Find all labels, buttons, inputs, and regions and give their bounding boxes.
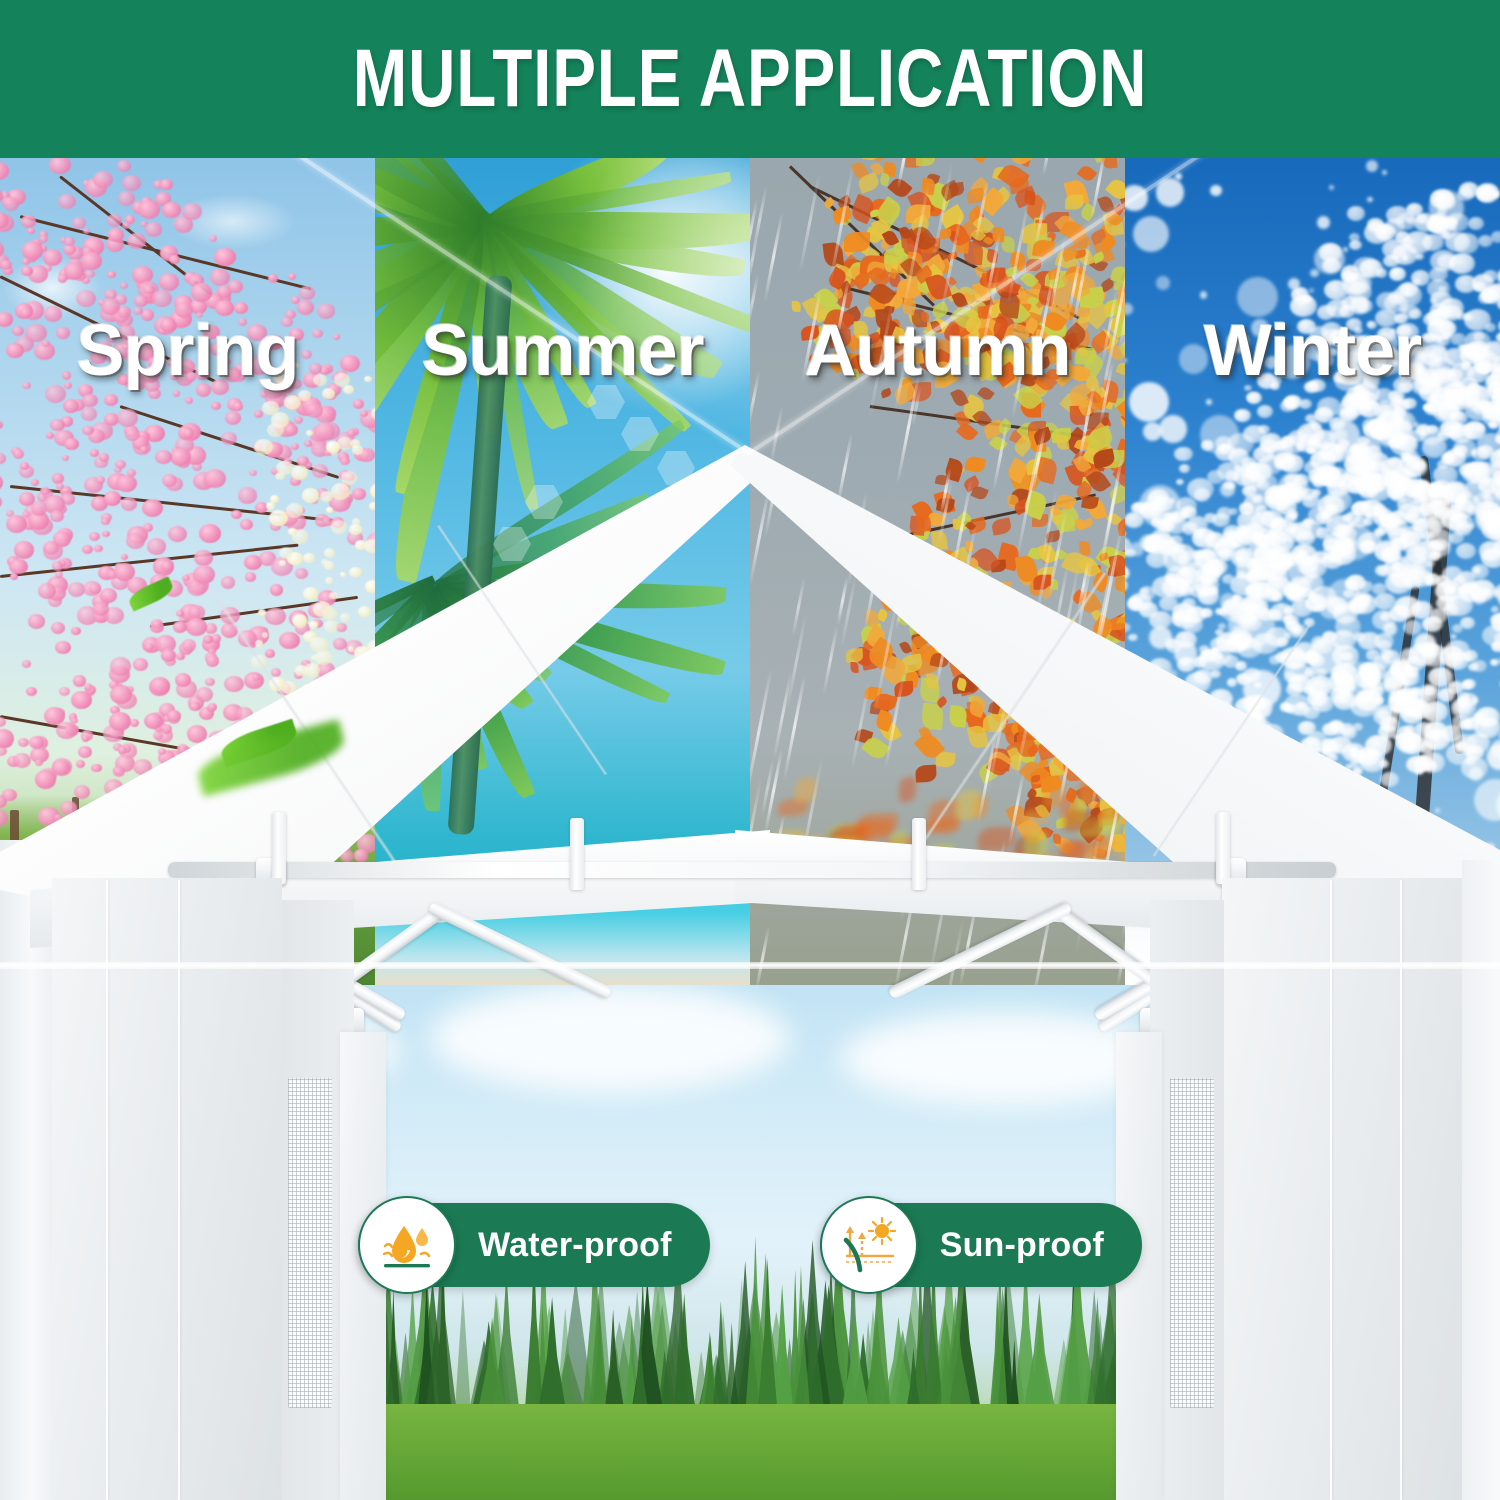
cherry-blossom bbox=[120, 282, 128, 289]
cherry-blossom bbox=[245, 572, 257, 582]
cherry-blossom bbox=[208, 703, 218, 712]
cherry-blossom bbox=[108, 353, 123, 366]
cherry-blossom bbox=[312, 329, 323, 338]
cherry-blossom bbox=[104, 394, 118, 406]
white-blossom bbox=[292, 614, 306, 626]
cherry-blossom bbox=[185, 372, 197, 382]
white-blossom bbox=[313, 601, 331, 617]
cherry-blossom bbox=[110, 685, 132, 704]
cherry-blossom bbox=[170, 373, 178, 380]
cherry-blossom bbox=[116, 475, 137, 493]
cherry-blossom bbox=[266, 335, 283, 350]
cherry-blossom bbox=[82, 545, 93, 554]
white-blossom bbox=[315, 650, 331, 664]
cherry-blossom bbox=[268, 274, 278, 282]
snowflake bbox=[1278, 473, 1307, 502]
white-blossom bbox=[325, 577, 334, 584]
snowflake bbox=[1481, 489, 1490, 498]
snowflake bbox=[1169, 498, 1174, 503]
frosted-branch bbox=[1269, 655, 1281, 664]
frosted-branch bbox=[1210, 670, 1221, 678]
frosted-branch bbox=[1478, 235, 1493, 247]
cherry-blossom bbox=[211, 402, 221, 410]
cherry-blossom bbox=[225, 411, 241, 425]
frosted-branch bbox=[1459, 720, 1472, 730]
cherry-blossom bbox=[228, 280, 244, 293]
snowflake bbox=[1314, 244, 1344, 274]
white-blossom bbox=[364, 539, 375, 553]
canopy-strap bbox=[912, 818, 926, 890]
cherry-blossom bbox=[270, 584, 283, 595]
canopy-strap bbox=[1216, 812, 1230, 884]
frosted-branch bbox=[1250, 534, 1260, 542]
frosted-branch bbox=[1176, 479, 1184, 485]
frosted-branch bbox=[1139, 586, 1156, 599]
cherry-blossom bbox=[196, 687, 213, 702]
cherry-blossom bbox=[210, 269, 230, 286]
badge-water-proof[interactable]: Water-proof bbox=[358, 1196, 710, 1294]
white-blossom bbox=[279, 547, 293, 559]
frosted-branch bbox=[1330, 337, 1338, 344]
white-blossom bbox=[258, 609, 266, 616]
white-blossom bbox=[273, 371, 287, 383]
cherry-blossom bbox=[107, 271, 115, 278]
frosted-branch bbox=[1298, 520, 1323, 540]
cherry-blossom bbox=[26, 687, 38, 697]
cherry-blossom bbox=[78, 746, 92, 758]
frosted-branch bbox=[1235, 556, 1243, 563]
snowflake bbox=[1200, 415, 1239, 454]
frosted-branch bbox=[1128, 634, 1137, 642]
cherry-blossom bbox=[35, 770, 57, 789]
maple-leaf bbox=[853, 320, 868, 338]
cherry-blossom bbox=[102, 531, 110, 538]
cherry-blossom bbox=[83, 228, 90, 234]
cherry-blossom bbox=[182, 639, 197, 652]
white-blossom bbox=[343, 385, 354, 394]
cherry-blossom bbox=[206, 655, 220, 667]
frosted-branch bbox=[1287, 509, 1299, 518]
cherry-blossom bbox=[231, 510, 242, 519]
frosted-branch bbox=[1437, 254, 1456, 269]
cherry-blossom bbox=[141, 309, 154, 320]
cherry-blossom bbox=[82, 394, 98, 407]
cherry-blossom bbox=[0, 312, 13, 327]
cherry-blossom bbox=[162, 474, 177, 487]
cherry-blossom bbox=[0, 809, 8, 827]
maple-leaf bbox=[850, 661, 859, 672]
cherry-blossom bbox=[90, 350, 106, 364]
cherry-blossom bbox=[151, 619, 163, 629]
cherry-blossom bbox=[56, 722, 77, 740]
cherry-blossom bbox=[52, 760, 70, 775]
badge-sun-proof[interactable]: Sun-proof bbox=[820, 1196, 1142, 1294]
frosted-branch bbox=[1402, 398, 1416, 410]
cherry-blossom bbox=[173, 621, 188, 634]
cherry-blossom bbox=[117, 325, 135, 340]
cherry-blossom bbox=[314, 422, 335, 440]
cherry-blossom bbox=[55, 641, 71, 654]
cherry-blossom bbox=[39, 235, 48, 243]
white-blossom bbox=[303, 587, 318, 600]
maple-leaf bbox=[792, 300, 801, 311]
photo-composite-seam bbox=[0, 962, 1500, 969]
badge-icon-circle bbox=[820, 1196, 918, 1294]
cherry-blossom bbox=[74, 785, 91, 799]
cherry-blossom bbox=[13, 449, 25, 459]
cherry-blossom bbox=[189, 702, 200, 712]
cherry-blossom bbox=[22, 660, 31, 668]
maple-leaf bbox=[1053, 834, 1061, 844]
cherry-blossom bbox=[93, 171, 113, 188]
frosted-branch bbox=[1174, 447, 1192, 462]
frosted-branch bbox=[1375, 309, 1398, 327]
white-blossom bbox=[303, 553, 315, 563]
cherry-blossom bbox=[81, 407, 97, 421]
frosted-branch bbox=[1433, 465, 1458, 485]
cherry-blossom bbox=[138, 200, 160, 219]
white-blossom bbox=[291, 465, 309, 480]
cherry-blossom bbox=[182, 575, 189, 581]
white-blossom bbox=[349, 524, 362, 535]
cherry-blossom bbox=[0, 260, 12, 270]
frosted-branch bbox=[1375, 542, 1399, 561]
cherry-blossom bbox=[203, 325, 220, 340]
cherry-blossom bbox=[265, 608, 285, 626]
frosted-branch bbox=[1327, 348, 1337, 356]
cherry-blossom bbox=[333, 638, 348, 650]
cherry-blossom bbox=[62, 371, 72, 379]
cherry-blossom bbox=[12, 326, 24, 336]
cherry-blossom bbox=[62, 455, 70, 461]
frosted-branch bbox=[1456, 543, 1476, 559]
cherry-blossom bbox=[199, 524, 220, 542]
cherry-blossom bbox=[196, 312, 203, 318]
maple-leaf bbox=[1065, 194, 1084, 209]
frosted-branch bbox=[1459, 463, 1476, 477]
cherry-blossom bbox=[85, 270, 95, 278]
cherry-blossom bbox=[113, 766, 125, 776]
frosted-branch bbox=[1266, 589, 1280, 600]
product-marketing-image: Spring Summer Autumn Winter bbox=[0, 0, 1500, 1500]
snowflake bbox=[1156, 276, 1169, 289]
frosted-branch bbox=[1347, 395, 1372, 415]
cherry-blossom bbox=[289, 328, 304, 341]
cherry-blossom bbox=[288, 273, 296, 280]
cherry-blossom bbox=[143, 523, 153, 532]
frosted-branch bbox=[1466, 733, 1490, 752]
snowflake bbox=[1350, 296, 1369, 315]
cherry-blossom bbox=[175, 302, 193, 317]
tent-side-wall-left bbox=[52, 878, 282, 1500]
cherry-blossom bbox=[0, 474, 3, 491]
snowflake bbox=[1200, 291, 1207, 298]
cherry-blossom bbox=[312, 464, 328, 478]
cherry-blossom bbox=[0, 421, 3, 429]
cherry-blossom bbox=[352, 488, 366, 500]
cherry-blossom bbox=[81, 252, 101, 270]
frosted-branch bbox=[1468, 217, 1484, 230]
maple-leaf bbox=[917, 514, 932, 532]
wall-seam bbox=[1400, 880, 1402, 1500]
frosted-branch bbox=[1428, 667, 1453, 687]
cherry-blossom bbox=[100, 588, 117, 603]
cherry-blossom bbox=[221, 576, 236, 589]
white-blossom bbox=[309, 621, 318, 629]
frosted-branch bbox=[1182, 522, 1198, 535]
frosted-branch bbox=[1427, 279, 1450, 297]
cherry-blossom bbox=[22, 382, 30, 389]
frosted-branch bbox=[1397, 323, 1419, 341]
cherry-blossom bbox=[309, 363, 322, 374]
white-blossom bbox=[326, 507, 333, 513]
cherry-blossom bbox=[19, 492, 35, 506]
snowflake bbox=[1163, 546, 1189, 572]
frosted-branch bbox=[1461, 344, 1477, 357]
cherry-blossom bbox=[233, 402, 243, 411]
cherry-blossom bbox=[252, 674, 260, 681]
cherry-blossom bbox=[193, 565, 215, 584]
frosted-branch bbox=[1270, 517, 1288, 532]
cherry-blossom bbox=[211, 379, 229, 394]
cherry-blossom bbox=[183, 429, 193, 438]
white-blossom bbox=[267, 423, 284, 437]
frosted-branch bbox=[1442, 332, 1451, 339]
frosted-branch bbox=[1374, 593, 1395, 610]
cherry-blossom bbox=[168, 526, 187, 542]
cherry-blossom bbox=[234, 302, 248, 314]
cherry-blossom bbox=[58, 194, 76, 209]
snowflake bbox=[1319, 596, 1341, 618]
cherry-blossom bbox=[45, 385, 65, 403]
cherry-blossom bbox=[186, 618, 207, 636]
frosted-branch bbox=[1312, 489, 1322, 497]
frosted-branch bbox=[1402, 305, 1419, 319]
white-blossom bbox=[310, 637, 328, 652]
snowflake bbox=[1429, 190, 1465, 226]
frosted-branch bbox=[1461, 680, 1473, 690]
frosted-branch bbox=[1230, 531, 1252, 548]
white-blossom bbox=[286, 503, 303, 518]
distant-foliage bbox=[857, 813, 899, 836]
white-blossom bbox=[326, 441, 339, 452]
tent-wall-right-outer bbox=[1462, 860, 1500, 1500]
cherry-blossom bbox=[147, 538, 166, 554]
frosted-branch bbox=[1197, 587, 1210, 597]
frosted-branch bbox=[1179, 464, 1190, 473]
cherry-blossom bbox=[21, 266, 33, 276]
frosted-branch bbox=[1204, 513, 1217, 523]
cherry-blossom bbox=[140, 446, 148, 453]
cherry-blossom bbox=[108, 228, 124, 242]
frosted-branch bbox=[1415, 253, 1423, 260]
frosted-branch bbox=[1401, 706, 1424, 724]
frosted-branch bbox=[1486, 373, 1500, 388]
frosted-branch bbox=[1367, 218, 1383, 231]
cherry-blossom bbox=[18, 738, 29, 747]
frosted-branch bbox=[1385, 218, 1405, 234]
snowflake bbox=[1284, 671, 1296, 683]
snowflake bbox=[1237, 277, 1277, 317]
cherry-blossom bbox=[140, 366, 160, 383]
cherry-blossom bbox=[35, 759, 43, 766]
cherry-blossom bbox=[336, 623, 346, 632]
white-blossom bbox=[329, 592, 338, 600]
cherry-blossom bbox=[10, 573, 18, 580]
white-blossom bbox=[284, 395, 301, 410]
cherry-blossom bbox=[284, 424, 298, 436]
snowflake bbox=[1475, 503, 1500, 533]
snowflake bbox=[1383, 622, 1396, 635]
cherry-blossom bbox=[295, 568, 308, 579]
cherry-blossom bbox=[238, 487, 257, 503]
feature-badge-row: Water-proof Sun-proof bbox=[0, 1196, 1500, 1306]
cherry-blossom bbox=[240, 519, 253, 530]
snowflake bbox=[1179, 344, 1208, 373]
cherry-blossom bbox=[28, 614, 45, 629]
frosted-branch bbox=[1385, 361, 1401, 374]
cherry-blossom bbox=[173, 390, 180, 396]
sun-deflect-icon bbox=[836, 1212, 902, 1278]
snowflake bbox=[1382, 735, 1387, 740]
cherry-blossom bbox=[161, 561, 173, 571]
frosted-branch bbox=[1252, 495, 1262, 503]
frosted-branch bbox=[1399, 455, 1426, 476]
frosted-branch bbox=[1377, 640, 1392, 652]
distant-foliage bbox=[1022, 810, 1049, 823]
white-blossom bbox=[293, 363, 299, 368]
cherry-blossom bbox=[134, 295, 148, 307]
cherry-blossom bbox=[187, 725, 207, 743]
distant-foliage bbox=[899, 777, 916, 802]
snowflake bbox=[1228, 602, 1274, 648]
white-blossom bbox=[365, 580, 375, 593]
cherry-blossom bbox=[191, 283, 213, 301]
frosted-branch bbox=[1347, 206, 1365, 220]
snowflake bbox=[1145, 494, 1166, 515]
snowflake bbox=[1206, 399, 1212, 405]
cherry-blossom bbox=[63, 399, 79, 413]
cherry-blossom bbox=[210, 342, 226, 356]
cherry-blossom bbox=[21, 215, 36, 228]
cherry-blossom bbox=[0, 453, 6, 464]
white-blossom bbox=[349, 567, 361, 577]
snowflake bbox=[1414, 633, 1436, 655]
frosted-branch bbox=[1468, 663, 1479, 672]
snowflake bbox=[1431, 369, 1436, 374]
snowflake bbox=[1372, 408, 1412, 448]
frosted-branch bbox=[1457, 696, 1470, 707]
frosted-branch bbox=[1241, 457, 1258, 470]
cherry-blossom bbox=[76, 290, 96, 307]
frosted-branch bbox=[1203, 543, 1230, 565]
frosted-branch bbox=[1389, 267, 1406, 281]
cherry-blossom bbox=[169, 255, 180, 265]
cherry-blossom bbox=[196, 383, 212, 396]
snowflake bbox=[1402, 254, 1409, 261]
cherry-blossom bbox=[125, 428, 140, 441]
cherry-blossom bbox=[99, 453, 109, 462]
cherry-blossom bbox=[150, 677, 170, 694]
cherry-blossom bbox=[121, 554, 128, 560]
frosted-branch bbox=[1366, 339, 1386, 355]
cherry-blossom bbox=[56, 327, 69, 338]
cherry-blossom bbox=[117, 409, 137, 427]
frosted-branch bbox=[1280, 400, 1296, 413]
cherry-blossom bbox=[224, 676, 244, 693]
tent-side-wall-right bbox=[1222, 878, 1462, 1500]
cherry-blossom bbox=[281, 317, 293, 327]
frosted-branch bbox=[1438, 688, 1455, 702]
frosted-branch bbox=[1401, 237, 1414, 247]
white-blossom bbox=[254, 439, 273, 455]
cherry-blossom bbox=[115, 460, 126, 469]
cherry-blossom bbox=[96, 476, 105, 484]
frosted-branch bbox=[1376, 709, 1390, 720]
snowflake bbox=[1448, 378, 1464, 394]
maple-leaf bbox=[884, 248, 904, 264]
frosted-branch bbox=[1229, 508, 1238, 515]
white-blossom bbox=[358, 606, 371, 617]
cherry-blossom bbox=[265, 649, 275, 658]
snowflake bbox=[1268, 546, 1294, 572]
snowflake bbox=[1129, 382, 1169, 422]
cherry-blossom bbox=[224, 367, 241, 381]
snowflake bbox=[1125, 358, 1127, 363]
cherry-blossom bbox=[46, 432, 54, 439]
badge-label: Sun-proof bbox=[940, 1226, 1104, 1265]
cherry-blossom bbox=[221, 432, 236, 445]
header-banner: MULTIPLE APPLICATION bbox=[0, 0, 1500, 158]
frosted-branch bbox=[1415, 722, 1433, 736]
cherry-blossom bbox=[238, 318, 247, 326]
frosted-branch bbox=[1337, 376, 1346, 383]
cherry-blossom bbox=[214, 248, 235, 266]
snowflake bbox=[1391, 565, 1399, 573]
canopy-strap bbox=[272, 812, 286, 884]
snowflake bbox=[1390, 658, 1410, 678]
cherry-blossom bbox=[294, 416, 304, 424]
maple-leaf bbox=[920, 312, 929, 323]
white-blossom bbox=[266, 502, 276, 510]
frosted-branch bbox=[1477, 186, 1495, 200]
frosted-branch bbox=[1356, 450, 1367, 459]
frosted-branch bbox=[1227, 678, 1238, 686]
cherry-blossom bbox=[22, 258, 30, 265]
snowflake bbox=[1275, 459, 1284, 468]
frame-ridge-beam bbox=[168, 862, 1336, 878]
cherry-blossom bbox=[107, 214, 122, 227]
snowflake bbox=[1295, 581, 1300, 586]
white-blossom bbox=[302, 488, 319, 503]
snowflake bbox=[1322, 742, 1337, 757]
cherry-blossom bbox=[297, 456, 308, 466]
snowflake bbox=[1441, 230, 1450, 239]
white-blossom bbox=[288, 528, 297, 535]
cherry-blossom bbox=[38, 583, 56, 599]
cherry-blossom bbox=[248, 356, 270, 375]
cherry-blossom bbox=[59, 687, 70, 696]
frosted-branch bbox=[1304, 381, 1319, 393]
frosted-branch bbox=[1284, 694, 1311, 716]
snowflake bbox=[1317, 216, 1330, 229]
wall-seam bbox=[106, 880, 108, 1500]
cherry-blossom bbox=[304, 440, 312, 447]
cherry-blossom bbox=[49, 156, 71, 175]
frosted-branch bbox=[1260, 433, 1283, 451]
cherry-blossom bbox=[82, 735, 90, 742]
cherry-blossom bbox=[44, 306, 62, 321]
